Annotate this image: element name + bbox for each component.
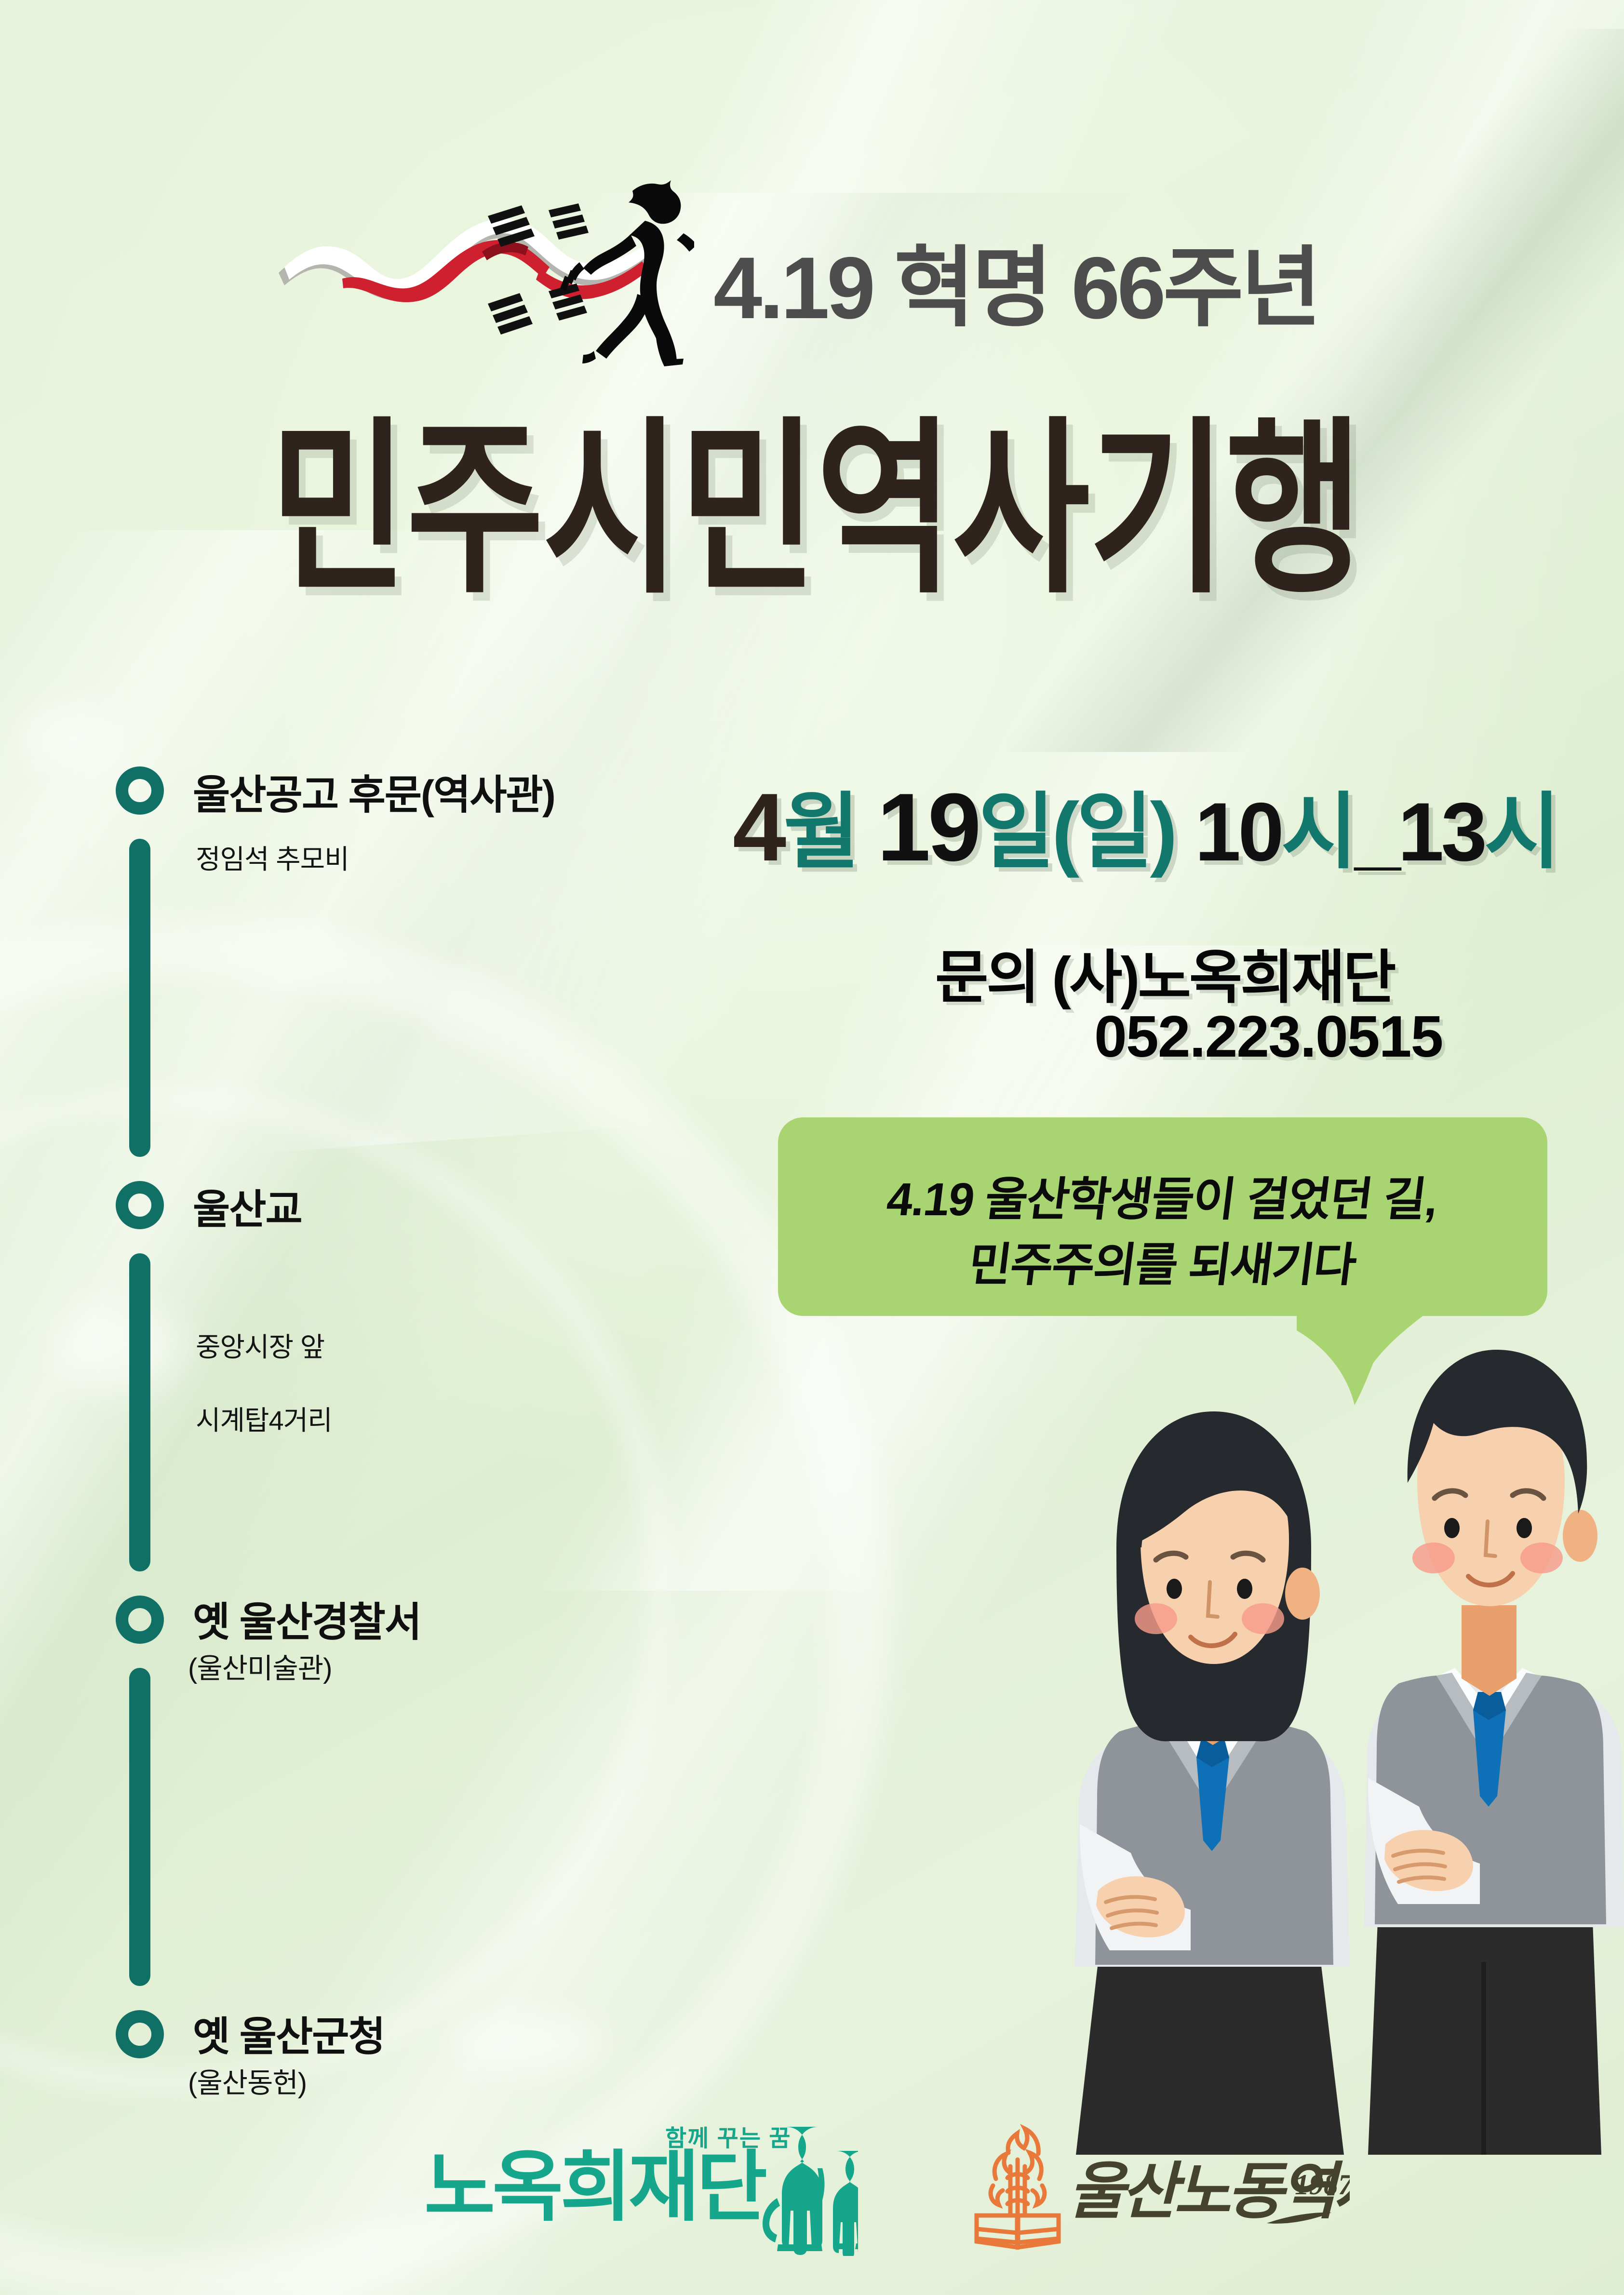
timeline-connector — [129, 839, 150, 1157]
background-glow-2 — [453, 2015, 607, 2073]
event-hour-unit-1: 시 — [1281, 786, 1355, 878]
speech-bubble-line-2: 민주주의를 되새기다 — [774, 1227, 1551, 1294]
speech-bubble-line-1: 4.19 울산학생들이 걸었던 길, — [774, 1162, 1551, 1229]
logo-noh-ok-hee-foundation: 함께 꾸는 꿈 노옥희재단 — [415, 2111, 858, 2256]
background-glow-1 — [58, 1302, 183, 1393]
timeline-connector — [129, 1668, 150, 1986]
timeline-marker-icon — [116, 766, 164, 815]
timeline-stop-sub: 정임석 추모비 — [196, 838, 349, 877]
timeline-stop-sub: 시계탑4거리 — [196, 1399, 332, 1438]
timeline-connector — [129, 1253, 150, 1571]
contact-phone[interactable]: 052.223.0515 — [1094, 1003, 1442, 1070]
timeline-stop-sub: 중앙시장 앞 — [196, 1326, 324, 1365]
event-weekday: (일) — [1052, 786, 1175, 878]
logo-ulsan-labor-history-museum: 울산노동역사관 1987 — [954, 2121, 1350, 2256]
speech-bubble: 4.19 울산학생들이 걸었던 길, 민주주의를 되새기다 — [778, 1117, 1547, 1316]
student-boy — [1364, 1350, 1624, 2155]
timeline-marker-icon — [116, 2010, 164, 2058]
poster-canvas: 4.19 혁명 66주년 민주시민역사기행 울산공고 후문(역사관) 정임석 추… — [0, 0, 1624, 2295]
timeline-marker-icon — [116, 1596, 164, 1644]
event-month-unit: 월 — [783, 786, 857, 878]
page-subtitle: 4.19 혁명 66주년 — [713, 217, 1319, 344]
timeline-stop-title: 옛 울산경찰서 — [193, 1590, 421, 1648]
event-hour-unit-2: 시 — [1484, 786, 1557, 878]
student-girl — [1075, 1411, 1350, 2155]
event-start-hour: 10 — [1195, 786, 1281, 878]
timeline-stop-title: 울산교 — [193, 1177, 302, 1235]
timeline-stop-title: 옛 울산군청 — [193, 2004, 385, 2063]
logo-ulsan-year: 1987 — [1295, 2169, 1350, 2201]
logo-noh-name: 노옥희재단 — [424, 2144, 766, 2230]
torch-book-emblem-icon — [977, 2129, 1059, 2247]
event-day: 19 — [877, 774, 978, 881]
event-end-hour: 13 — [1398, 786, 1484, 878]
students-illustration — [983, 1321, 1624, 2155]
page-title: 민주시민역사기행 — [270, 357, 1362, 630]
event-day-unit: 일 — [979, 786, 1052, 878]
timeline-stop-sub: (울산동헌) — [188, 2060, 307, 2101]
event-datetime: 4월 19일(일) 10시_13시 — [733, 764, 1557, 885]
timeline-stop-title: 울산공고 후문(역사관) — [193, 763, 555, 821]
timeline-stop-sub: (울산미술관) — [188, 1646, 332, 1686]
contact-line: 문의 (사)노옥희재단 — [935, 930, 1394, 1014]
korean-flag-runner-icon — [270, 159, 694, 366]
timeline-marker-icon — [116, 1181, 164, 1229]
event-month: 4 — [733, 774, 783, 881]
event-time-dash: _ — [1355, 786, 1398, 878]
background-glow-3 — [19, 704, 116, 771]
